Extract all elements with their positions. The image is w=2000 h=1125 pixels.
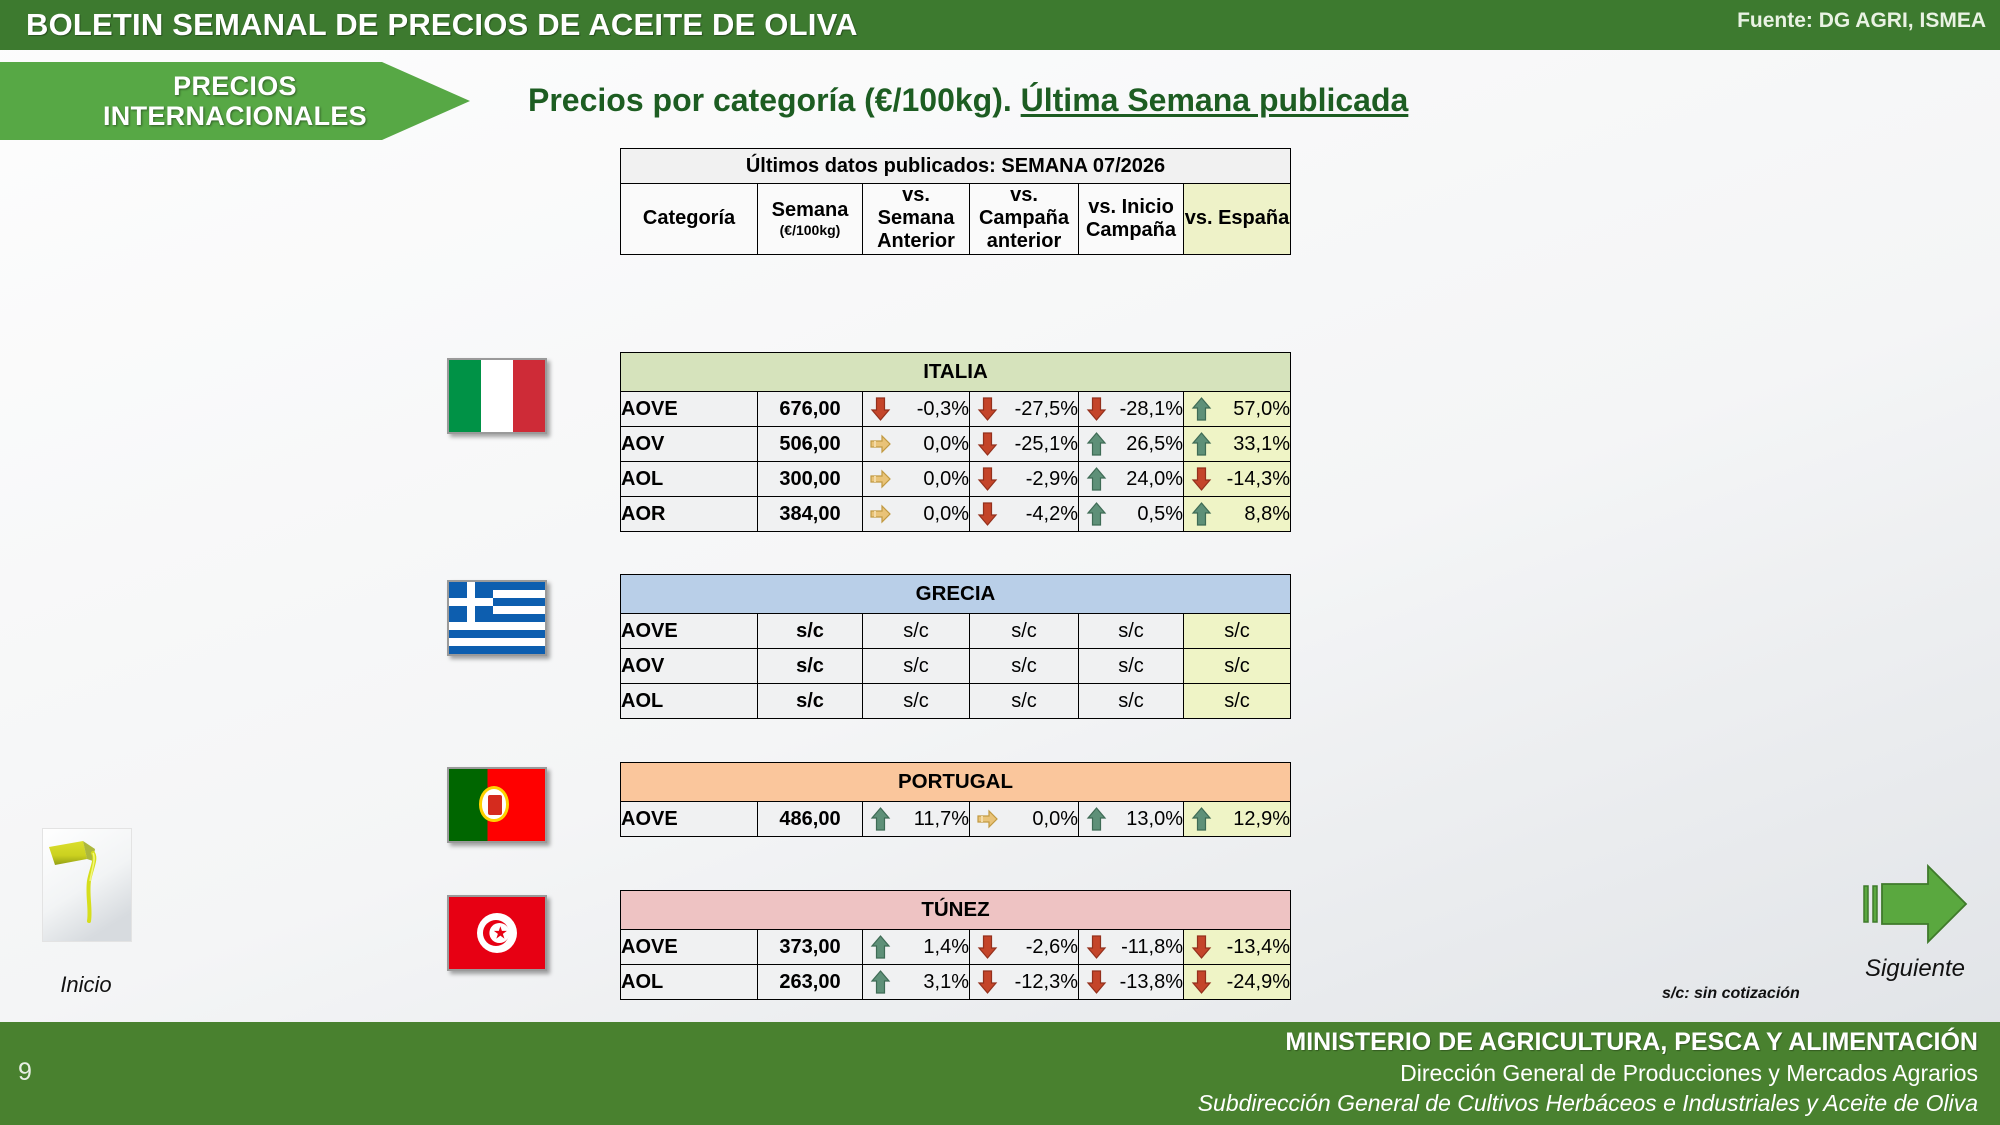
footer-direction: Dirección General de Producciones y Merc…: [1400, 1060, 1978, 1087]
arrow-down-icon: [1086, 970, 1107, 994]
sc-legend-note: s/c: sin cotización: [1662, 985, 1800, 1003]
tunisia-flag-icon: ★: [447, 895, 547, 971]
slide-subtitle: Precios por categoría (€/100kg). Última …: [528, 82, 1408, 119]
cell-semana: 384,00: [758, 497, 863, 532]
cell-vs-espana: s/c: [1184, 614, 1291, 649]
arrow-up-icon: [1191, 502, 1212, 526]
cell-vs-inicio-campana: -13,8%: [1079, 965, 1184, 1000]
table-row: AOVEs/cs/cs/cs/cs/c: [621, 614, 1291, 649]
table-row: AOVs/cs/cs/cs/cs/c: [621, 649, 1291, 684]
cell-semana: 486,00: [758, 802, 863, 837]
column-header-semana-unit: (€/100kg): [758, 222, 862, 238]
arrow-up-icon: [1086, 502, 1107, 526]
arrow-down-icon: [1191, 467, 1212, 491]
cell-vs-inicio-campana: 0,5%: [1079, 497, 1184, 532]
cell-vs-campana-anterior: -4,2%: [970, 497, 1079, 532]
footer-ministry: MINISTERIO DE AGRICULTURA, PESCA Y ALIME…: [1285, 1028, 1978, 1057]
cell-vs-campana-anterior: -25,1%: [970, 427, 1079, 462]
country-name-header: ITALIA: [621, 353, 1291, 392]
cell-semana: s/c: [758, 649, 863, 684]
table-row: AOVE373,001,4%-2,6%-11,8%-13,4%: [621, 930, 1291, 965]
greece-flag-icon: [447, 580, 547, 656]
section-tab-line1: PRECIOS: [173, 71, 297, 101]
cell-semana: s/c: [758, 614, 863, 649]
cell-categoria: AOL: [621, 462, 758, 497]
cell-categoria: AOR: [621, 497, 758, 532]
column-header-vs-semana-anterior: vs. Semana Anterior: [863, 184, 970, 255]
arrow-right-icon: [870, 467, 891, 491]
arrow-up-icon: [1191, 432, 1212, 456]
country-name-header: PORTUGAL: [621, 763, 1291, 802]
arrow-up-icon: [1191, 397, 1212, 421]
cell-semana: s/c: [758, 684, 863, 719]
arrow-down-icon: [1086, 397, 1107, 421]
column-header-vs-inicio-campana: vs. Inicio Campaña: [1079, 184, 1184, 255]
table-row: AOR384,000,0%-4,2%0,5%8,8%: [621, 497, 1291, 532]
olive-oil-bottle-image: [43, 829, 131, 941]
cell-vs-semana-anterior: 3,1%: [863, 965, 970, 1000]
cell-semana: 300,00: [758, 462, 863, 497]
greece-flag-cross-horizontal: [449, 598, 493, 606]
siguiente-label[interactable]: Siguiente: [1830, 955, 2000, 983]
cell-vs-campana-anterior: s/c: [970, 684, 1079, 719]
inicio-label[interactable]: Inicio: [42, 972, 130, 998]
arrow-down-icon: [977, 397, 998, 421]
cell-categoria: AOV: [621, 427, 758, 462]
cell-vs-inicio-campana: 26,5%: [1079, 427, 1184, 462]
source-attribution: Fuente: DG AGRI, ISMEA: [1737, 9, 1986, 33]
arrow-up-icon: [1086, 467, 1107, 491]
country-table-italia: ITALIAAOVE676,00-0,3%-27,5%-28,1%57,0%AO…: [620, 352, 1291, 532]
table-row: AOV506,000,0%-25,1%26,5%33,1%: [621, 427, 1291, 462]
table-row: Categoría Semana (€/100kg) vs. Semana An…: [621, 184, 1291, 255]
column-header-semana-label: Semana: [758, 199, 862, 222]
arrow-right-icon: [870, 502, 891, 526]
country-name-header: TÚNEZ: [621, 891, 1291, 930]
page-title: BOLETIN SEMANAL DE PRECIOS DE ACEITE DE …: [26, 7, 858, 43]
arrow-down-icon: [977, 432, 998, 456]
cell-categoria: AOVE: [621, 614, 758, 649]
cell-vs-semana-anterior: 0,0%: [863, 427, 970, 462]
cell-categoria: AOVE: [621, 802, 758, 837]
portugal-flag-icon: [447, 767, 547, 843]
cell-vs-inicio-campana: -11,8%: [1079, 930, 1184, 965]
footer-subdirection: Subdirección General de Cultivos Herbáce…: [1198, 1090, 1978, 1117]
table-row: AOVE486,0011,7%0,0%13,0%12,9%: [621, 802, 1291, 837]
table-row: PORTUGAL: [621, 763, 1291, 802]
arrow-down-icon: [1086, 935, 1107, 959]
cell-vs-semana-anterior: 11,7%: [863, 802, 970, 837]
arrow-up-icon: [870, 807, 891, 831]
table-row: AOL300,000,0%-2,9%24,0%-14,3%: [621, 462, 1291, 497]
arrow-up-icon: [1086, 432, 1107, 456]
footer-bar: MINISTERIO DE AGRICULTURA, PESCA Y ALIME…: [0, 1022, 2000, 1125]
country-table-túnez: TÚNEZAOVE373,001,4%-2,6%-11,8%-13,4%AOL2…: [620, 890, 1291, 1000]
cell-vs-espana: 33,1%: [1184, 427, 1291, 462]
cell-vs-inicio-campana: 13,0%: [1079, 802, 1184, 837]
italy-flag-icon: [447, 358, 547, 434]
table-row: GRECIA: [621, 575, 1291, 614]
arrow-down-icon: [977, 467, 998, 491]
slide-subtitle-plain: Precios por categoría (€/100kg).: [528, 82, 1021, 118]
cell-vs-espana: -14,3%: [1184, 462, 1291, 497]
arrow-down-icon: [1191, 970, 1212, 994]
cell-vs-campana-anterior: s/c: [970, 649, 1079, 684]
table-header: Últimos datos publicados: SEMANA 07/2026…: [620, 148, 1291, 255]
siguiente-arrow-icon[interactable]: [1860, 862, 1970, 946]
arrow-up-icon: [870, 970, 891, 994]
arrow-down-icon: [977, 502, 998, 526]
cell-semana: 263,00: [758, 965, 863, 1000]
cell-categoria: AOVE: [621, 930, 758, 965]
arrow-down-icon: [977, 935, 998, 959]
cell-vs-campana-anterior: -2,9%: [970, 462, 1079, 497]
cell-semana: 676,00: [758, 392, 863, 427]
arrow-down-icon: [977, 970, 998, 994]
cell-vs-semana-anterior: s/c: [863, 649, 970, 684]
cell-semana: 506,00: [758, 427, 863, 462]
cell-vs-campana-anterior: -12,3%: [970, 965, 1079, 1000]
arrow-up-icon: [870, 935, 891, 959]
table-row: AOL263,003,1%-12,3%-13,8%-24,9%: [621, 965, 1291, 1000]
cell-vs-espana: s/c: [1184, 649, 1291, 684]
cell-vs-campana-anterior: 0,0%: [970, 802, 1079, 837]
tunisia-flag-star: ★: [493, 925, 508, 942]
merged-header-cell: Últimos datos publicados: SEMANA 07/2026: [621, 149, 1291, 184]
table-row: ITALIA: [621, 353, 1291, 392]
arrow-down-icon: [870, 397, 891, 421]
cell-vs-inicio-campana: s/c: [1079, 614, 1184, 649]
cell-vs-semana-anterior: -0,3%: [863, 392, 970, 427]
slide-subtitle-underlined: Última Semana publicada: [1021, 82, 1409, 118]
cell-vs-semana-anterior: s/c: [863, 614, 970, 649]
table-row: AOVE676,00-0,3%-27,5%-28,1%57,0%: [621, 392, 1291, 427]
cell-vs-inicio-campana: -28,1%: [1079, 392, 1184, 427]
country-name-header: GRECIA: [621, 575, 1291, 614]
cell-vs-campana-anterior: s/c: [970, 614, 1079, 649]
section-tab-precios-internacionales[interactable]: PRECIOS INTERNACIONALES: [0, 62, 470, 140]
cell-vs-inicio-campana: s/c: [1079, 684, 1184, 719]
cell-vs-espana: -24,9%: [1184, 965, 1291, 1000]
cell-categoria: AOVE: [621, 392, 758, 427]
cell-vs-espana: 57,0%: [1184, 392, 1291, 427]
cell-vs-semana-anterior: 0,0%: [863, 462, 970, 497]
cell-vs-espana: 12,9%: [1184, 802, 1291, 837]
table-row: TÚNEZ: [621, 891, 1291, 930]
portugal-flag-shield-inner: [488, 795, 502, 815]
cell-vs-espana: 8,8%: [1184, 497, 1291, 532]
cell-categoria: AOL: [621, 965, 758, 1000]
column-header-vs-campana-anterior: vs. Campaña anterior: [970, 184, 1079, 255]
table-row: AOLs/cs/cs/cs/cs/c: [621, 684, 1291, 719]
cell-categoria: AOL: [621, 684, 758, 719]
section-tab-line2: INTERNACIONALES: [103, 101, 367, 131]
cell-vs-espana: -13,4%: [1184, 930, 1291, 965]
country-table-portugal: PORTUGALAOVE486,0011,7%0,0%13,0%12,9%: [620, 762, 1291, 837]
cell-vs-campana-anterior: -27,5%: [970, 392, 1079, 427]
cell-semana: 373,00: [758, 930, 863, 965]
cell-vs-campana-anterior: -2,6%: [970, 930, 1079, 965]
arrow-right-icon: [977, 807, 998, 831]
column-header-semana: Semana (€/100kg): [758, 184, 863, 255]
cell-vs-inicio-campana: 24,0%: [1079, 462, 1184, 497]
cell-vs-semana-anterior: s/c: [863, 684, 970, 719]
country-table-grecia: GRECIAAOVEs/cs/cs/cs/cs/cAOVs/cs/cs/cs/c…: [620, 574, 1291, 719]
column-header-vs-espana: vs. España: [1184, 184, 1291, 255]
cell-vs-espana: s/c: [1184, 684, 1291, 719]
cell-vs-semana-anterior: 1,4%: [863, 930, 970, 965]
cell-vs-inicio-campana: s/c: [1079, 649, 1184, 684]
cell-categoria: AOV: [621, 649, 758, 684]
table-row: Últimos datos publicados: SEMANA 07/2026: [621, 149, 1291, 184]
arrow-up-icon: [1086, 807, 1107, 831]
top-header-bar: BOLETIN SEMANAL DE PRECIOS DE ACEITE DE …: [0, 0, 2000, 50]
arrow-up-icon: [1191, 807, 1212, 831]
portugal-flag-shield: [479, 786, 509, 822]
page-number: 9: [18, 1058, 32, 1087]
arrow-down-icon: [1191, 935, 1212, 959]
column-header-categoria: Categoría: [621, 184, 758, 255]
arrow-right-icon: [870, 432, 891, 456]
cell-vs-semana-anterior: 0,0%: [863, 497, 970, 532]
inicio-thumbnail[interactable]: [42, 828, 132, 942]
